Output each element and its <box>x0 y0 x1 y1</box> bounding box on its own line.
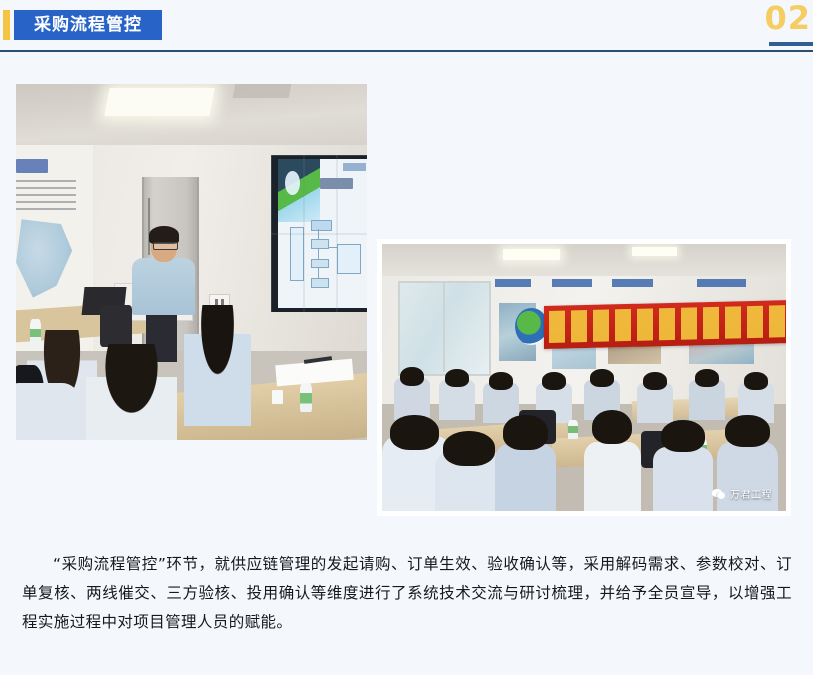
attendee-head <box>400 367 424 386</box>
main-photo-meeting-room <box>16 84 367 440</box>
banner-slogan-text <box>549 305 786 342</box>
attendee-front <box>495 444 556 511</box>
presenter-glasses-icon <box>153 242 178 250</box>
wall-sign <box>697 279 745 288</box>
page-header: 采购流程管控 02 <box>0 0 813 56</box>
attendee-foreground <box>86 344 177 440</box>
window <box>398 281 491 376</box>
attendee-head <box>695 369 719 386</box>
watermark-label: 万君工程 <box>730 486 772 501</box>
ceiling-light-icon <box>632 247 676 256</box>
page-title: 采购流程管控 <box>34 17 142 34</box>
body-paragraph: “采购流程管控”环节，就供应链管理的发起请购、订单生效、验收确认等，采用解码需求… <box>22 550 792 637</box>
wechat-icon <box>712 488 726 500</box>
attendee-head <box>725 415 769 447</box>
section-title-box: 采购流程管控 <box>14 10 162 40</box>
water-bottle <box>300 383 311 411</box>
ceiling-light-icon <box>503 249 560 260</box>
attendee-head <box>489 372 513 389</box>
attendee-head <box>590 369 614 386</box>
wall-sign <box>552 279 592 288</box>
water-bottle <box>568 420 578 439</box>
attendee-head <box>592 410 632 445</box>
company-logo-icon <box>515 308 547 345</box>
inset-photo-audience: 万君工程 <box>378 240 790 515</box>
paper-cup <box>272 390 283 404</box>
ceiling-panel <box>232 84 291 98</box>
media-area: 万君工程 <box>0 56 813 511</box>
projection-screen <box>278 159 367 309</box>
wall-poster-text <box>16 180 76 212</box>
slide-flowchart <box>289 219 362 303</box>
office-chair <box>100 305 132 348</box>
ceiling-light-icon <box>104 88 215 116</box>
attendee-head <box>443 431 496 466</box>
company-logo-icon <box>285 171 300 195</box>
wall-poster-heading <box>16 159 48 173</box>
red-slogan-banner <box>544 300 786 349</box>
title-accent-bar <box>3 10 10 40</box>
window-mullion <box>443 281 445 372</box>
wall-sign <box>612 279 652 288</box>
attendee-head <box>643 372 667 389</box>
attendee-head <box>445 369 469 386</box>
attendee-front <box>653 447 714 511</box>
attendee-head <box>661 420 705 452</box>
attendee-seated <box>16 383 79 440</box>
attendee-head <box>503 415 547 450</box>
door-handle <box>148 198 150 255</box>
presenter-torso <box>132 258 195 315</box>
inset-photo-content: 万君工程 <box>382 244 786 511</box>
slide-corner-tag <box>343 163 367 170</box>
header-divider <box>0 50 813 52</box>
attendee-front <box>584 442 641 511</box>
slide-header-band <box>278 159 320 222</box>
section-number: 02 <box>764 2 811 34</box>
slide-title <box>320 178 353 188</box>
attendee-head <box>390 415 438 450</box>
ceiling <box>382 244 786 279</box>
wall-sign <box>495 279 531 288</box>
section-number-underline <box>769 42 813 46</box>
attendee-seated <box>184 305 251 426</box>
attendee-head <box>542 372 566 389</box>
wechat-watermark: 万君工程 <box>712 486 772 501</box>
attendee-head <box>744 372 768 389</box>
